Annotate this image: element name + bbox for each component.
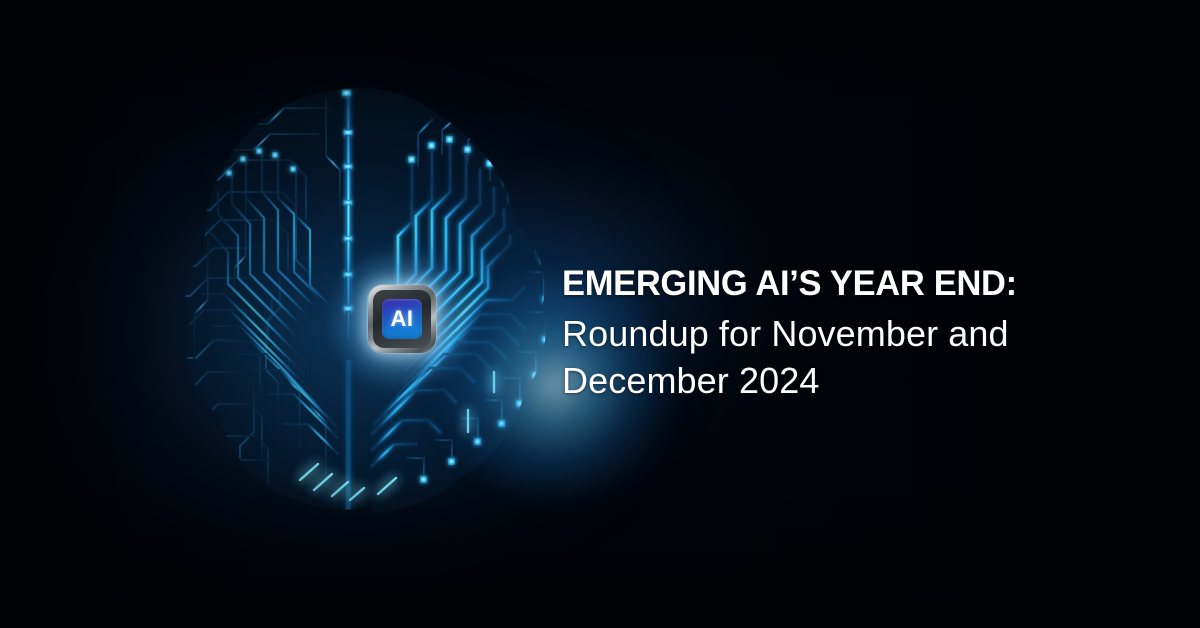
banner-subheadline-line-2: December 2024	[562, 357, 1162, 404]
banner-root: AI EMERGING AI’S YEAR END: Roundup for N…	[0, 0, 1200, 628]
banner-subheadline-line-1: Roundup for November and	[562, 310, 1162, 357]
banner-headline: EMERGING AI’S YEAR END:	[562, 262, 1153, 306]
banner-text-block: EMERGING AI’S YEAR END: Roundup for Nove…	[562, 262, 1162, 404]
